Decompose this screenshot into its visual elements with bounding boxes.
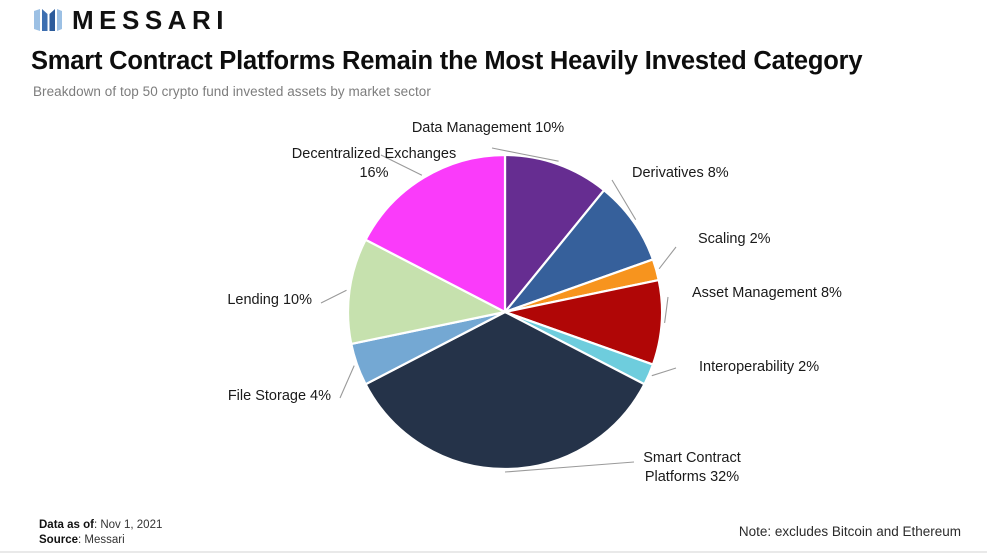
data-as-of-label: Data as of xyxy=(39,519,94,531)
source-line: Source: Messari xyxy=(39,533,162,548)
pie-slice-label: Lending 10% xyxy=(227,292,312,308)
pie-slice-label: Interoperability 2% xyxy=(699,359,819,375)
pie-leader-line xyxy=(659,247,676,269)
pie-leader-line xyxy=(665,297,668,323)
pie-slice-label: File Storage 4% xyxy=(228,388,331,404)
data-as-of-line: Data as of: Nov 1, 2021 xyxy=(39,518,162,533)
footer-note: Note: excludes Bitcoin and Ethereum xyxy=(739,524,961,539)
pie-chart: Data Management 10%Derivatives 8%Scaling… xyxy=(0,100,987,505)
footer-meta: Data as of: Nov 1, 2021 Source: Messari xyxy=(39,518,162,547)
pie-leader-line xyxy=(652,368,676,376)
source-label: Source xyxy=(39,534,78,546)
pie-leader-line xyxy=(340,366,354,398)
brand-wordmark: MESSARI xyxy=(72,8,229,32)
pie-leader-line xyxy=(321,290,347,303)
pie-slice-label: Smart ContractPlatforms 32% xyxy=(643,450,741,485)
pie-slice-label: Derivatives 8% xyxy=(632,165,729,181)
pie-slices xyxy=(348,155,662,469)
data-as-of-value: : Nov 1, 2021 xyxy=(94,519,162,531)
pie-chart-svg: Data Management 10%Derivatives 8%Scaling… xyxy=(0,100,987,505)
brand-lockup: MESSARI xyxy=(33,8,229,32)
page-title: Smart Contract Platforms Remain the Most… xyxy=(31,45,961,77)
pie-slice-label: Data Management 10% xyxy=(412,120,564,136)
messari-m-logo-icon xyxy=(33,8,63,32)
page-subtitle: Breakdown of top 50 crypto fund invested… xyxy=(33,84,431,99)
pie-slice-label: Asset Management 8% xyxy=(692,285,842,301)
source-value: : Messari xyxy=(78,534,125,546)
infographic-root: MESSARI Smart Contract Platforms Remain … xyxy=(0,0,987,553)
pie-slice-label: Scaling 2% xyxy=(698,231,771,247)
